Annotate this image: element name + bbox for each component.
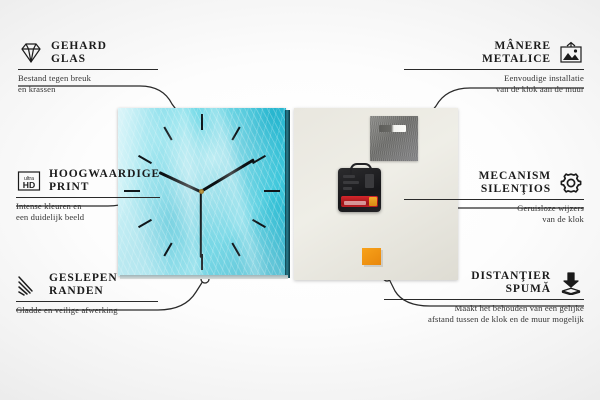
feature-divider: [18, 69, 158, 70]
ultra-hd-icon: ultra HD: [16, 169, 42, 193]
mechanism-vent: [343, 175, 355, 178]
clock-side-edge: [285, 110, 290, 278]
hour-mark-11: [163, 127, 172, 141]
feature-sub-line1: Bestand tegen breuk: [18, 73, 198, 84]
metal-hanger: [370, 116, 418, 161]
feature-title-line1: GESLEPEN: [49, 272, 118, 285]
hour-mark-10: [138, 155, 152, 164]
feature-sub-line2: van de klok aan de muur: [404, 84, 584, 95]
beveled-edges-icon: [16, 273, 42, 297]
hour-mark-12: [201, 114, 203, 130]
feature-divider: [404, 69, 584, 70]
feature-sub-line2: afstand tussen de klok en de muur mogeli…: [384, 314, 584, 325]
feature-hoogwaardige-print: ultra HD HOOGWAARDIGE PRINT Intense kleu…: [16, 168, 216, 223]
feature-title-line2: RANDEN: [49, 285, 118, 298]
feature-title-line1: HOOGWAARDIGE: [49, 168, 160, 181]
svg-text:HD: HD: [23, 180, 35, 190]
feature-divider: [404, 199, 584, 200]
feature-manere-metalice: MÂNERE METALICE Eenvoudige installatie v…: [404, 40, 584, 95]
hour-mark-7: [163, 243, 172, 257]
feature-title-line1: DISTANŢIER: [471, 270, 551, 283]
feature-sub-line1: Eenvoudige installatie: [404, 73, 584, 84]
hour-mark-3: [264, 190, 280, 192]
feature-divider: [384, 299, 584, 300]
hour-mark-1: [231, 127, 240, 141]
feature-title-line2: SPUMĂ: [471, 283, 551, 296]
feature-sub-line1: Maakt het behouden van een gelijke: [384, 303, 584, 314]
gear-icon: [558, 171, 584, 195]
feature-mecanism-silentios: MECANISM SILENŢIOS Geruisloze wijzers va…: [404, 170, 584, 225]
mechanism-vent: [343, 181, 359, 184]
battery-label: [344, 201, 366, 205]
hour-mark-2: [252, 155, 266, 164]
feature-divider: [16, 301, 158, 302]
feature-title-line2: GLAS: [51, 53, 107, 66]
feature-divider: [16, 197, 160, 198]
feature-gehard-glas: GEHARD GLAS Bestand tegen breuk en krass…: [18, 40, 198, 95]
wall-mount-icon: [558, 41, 584, 65]
feature-title-line1: GEHARD: [51, 40, 107, 53]
feature-distantier-spuma: DISTANŢIER SPUMĂ Maakt het behouden van …: [384, 270, 584, 325]
feature-heading: MÂNERE METALICE: [404, 40, 584, 66]
feature-sub-line1: Gladde en veilige afwerking: [16, 305, 216, 316]
feature-geslepen-randen: GESLEPEN RANDEN Gladde en veilige afwerk…: [16, 272, 216, 316]
feature-sub-line2: van de klok: [404, 214, 584, 225]
feature-sub-line2: en krassen: [18, 84, 198, 95]
feature-heading: DISTANŢIER SPUMĂ: [384, 270, 584, 296]
feature-heading: GEHARD GLAS: [18, 40, 198, 66]
product-infographic: GEHARD GLAS Bestand tegen breuk en krass…: [0, 0, 600, 400]
diamond-icon: [18, 41, 44, 65]
feature-sub-line2: een duidelijk beeld: [16, 212, 216, 223]
feature-title-line2: PRINT: [49, 181, 160, 194]
feature-heading: MECANISM SILENŢIOS: [404, 170, 584, 196]
mechanism-vent: [343, 187, 352, 190]
feature-heading: ultra HD HOOGWAARDIGE PRINT: [16, 168, 216, 194]
feature-sub-line1: Intense kleuren en: [16, 201, 216, 212]
aa-battery: [341, 196, 378, 207]
hour-mark-5: [231, 243, 240, 257]
feature-title-line1: MECANISM: [479, 170, 551, 183]
mechanism-switch: [365, 174, 374, 188]
feature-heading: GESLEPEN RANDEN: [16, 272, 216, 298]
clock-mechanism: [338, 168, 381, 212]
foam-spacer: [362, 248, 381, 265]
feature-title-line2: METALICE: [482, 53, 551, 66]
hanger-keyhole-slot: [379, 125, 406, 132]
hour-mark-4: [252, 219, 266, 228]
feature-title-line1: MÂNERE: [482, 40, 551, 53]
feature-sub-line1: Geruisloze wijzers: [404, 203, 584, 214]
hour-mark-6: [201, 254, 203, 270]
battery-positive-terminal: [369, 197, 377, 206]
spacer-down-icon: [558, 271, 584, 295]
feature-title-line2: SILENŢIOS: [479, 183, 551, 196]
clock-center-pin: [199, 189, 204, 194]
